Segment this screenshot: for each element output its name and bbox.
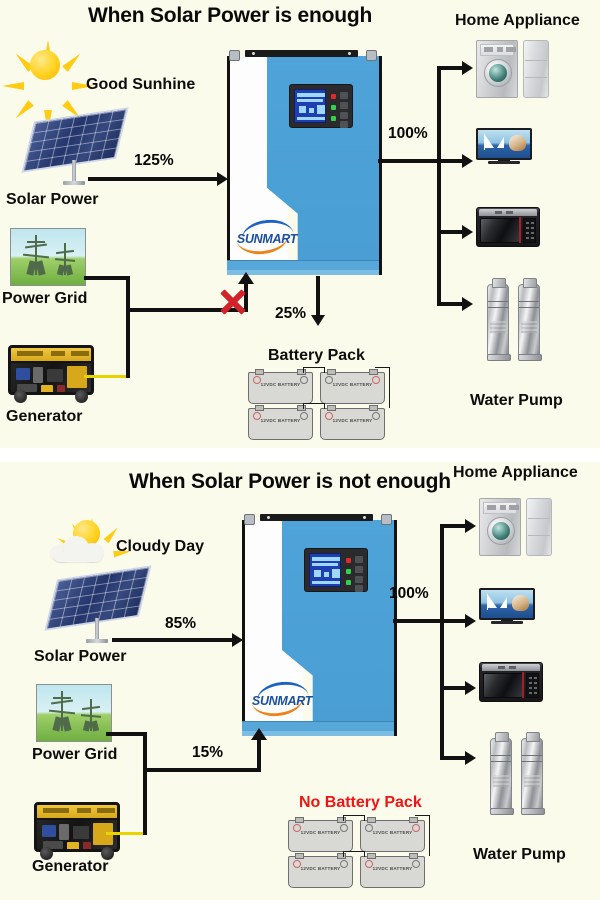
generator-wire-v-top <box>126 308 130 378</box>
panel-solar-not-enough: When Solar Power is not enough Cloudy Da… <box>0 462 600 900</box>
load-branch-1-bottom <box>440 524 467 528</box>
load-arrow-4-bottom <box>465 751 476 765</box>
power-grid-label-top: Power Grid <box>2 290 87 308</box>
battery-cell: 12VDC BATTERY <box>288 856 353 888</box>
grid-percent-bottom: 15% <box>192 744 223 762</box>
inverter-lcd-top <box>289 84 353 128</box>
generator-icon-bottom <box>34 802 120 860</box>
water-pump-icon-bottom <box>490 738 512 812</box>
red-x-icon <box>218 288 246 316</box>
load-arrow-4-top <box>462 297 473 311</box>
output-percent-bottom: 100% <box>389 585 429 603</box>
inverter-unit-bottom: SUNMART <box>242 514 394 736</box>
battery-percent-top: 25% <box>275 305 306 323</box>
diagram-page: When Solar Power is enough Good Sunhine … <box>0 0 600 900</box>
load-branch-2-top <box>437 159 464 163</box>
panel-divider <box>0 448 600 462</box>
washing-machine-icon-bottom <box>479 498 521 556</box>
ac-input-bus-bottom <box>143 768 261 772</box>
sun-icon <box>18 38 72 92</box>
cloud-icon <box>50 534 106 562</box>
panel-title-top: When Solar Power is enough <box>88 4 372 28</box>
solar-power-label-bottom: Solar Power <box>34 648 126 666</box>
output-line-bottom <box>393 619 443 623</box>
generator-wire-v-bottom <box>143 768 147 835</box>
no-battery-pack-label: No Battery Pack <box>299 794 422 812</box>
weather-label-bottom: Cloudy Day <box>116 538 204 556</box>
grid-wire-h-top <box>84 276 130 280</box>
load-branch-4-top <box>437 302 464 306</box>
ac-input-arrow-top <box>238 272 254 284</box>
refrigerator-icon-bottom <box>526 498 552 556</box>
brand-text: SUNMART <box>250 694 314 708</box>
load-arrow-3-bottom <box>465 681 476 695</box>
water-pump-icon-bottom-2 <box>521 738 543 812</box>
solar-panel-icon-bottom <box>55 574 151 646</box>
washing-machine-icon-top <box>476 40 518 98</box>
generator-wire-h-bottom <box>106 832 146 835</box>
solar-percent-bottom: 85% <box>165 615 196 633</box>
load-branch-2-bottom <box>440 619 467 623</box>
power-grid-icon-top <box>10 228 86 286</box>
inverter-brand-logo-top: SUNMART <box>235 220 299 254</box>
battery-cell: 12VDC BATTERY <box>248 408 313 440</box>
water-pump-label-bottom: Water Pump <box>473 846 566 864</box>
grid-wire-h-bottom <box>106 732 146 736</box>
battery-cell: 12VDC BATTERY <box>248 372 313 404</box>
battery-flow-line-top <box>316 276 320 316</box>
solar-flow-line-top <box>88 177 218 181</box>
grid-wire-v-top <box>126 276 130 310</box>
generator-label-top: Generator <box>6 408 82 426</box>
microwave-icon-top <box>476 207 540 247</box>
battery-pack-bottom: 12VDC BATTERY 12VDC BATTERY 12VDC BATTER… <box>288 818 434 888</box>
load-arrow-3-top <box>462 225 473 239</box>
battery-flow-arrow-top <box>311 315 325 326</box>
solar-flow-line-bottom <box>112 638 234 642</box>
refrigerator-icon-top <box>523 40 549 98</box>
output-percent-top: 100% <box>388 125 428 143</box>
output-line-top <box>378 159 440 163</box>
battery-pack-top: 12VDC BATTERY 12VDC BATTERY 12VDC BATTER… <box>248 370 394 440</box>
load-arrow-2-top <box>462 154 473 168</box>
water-pump-icon-top-2 <box>518 284 540 358</box>
load-branch-4-bottom <box>440 756 467 760</box>
weather-label-top: Good Sunhine <box>86 76 195 94</box>
ac-input-arrow-bottom <box>251 728 267 740</box>
power-grid-label-bottom: Power Grid <box>32 746 117 764</box>
load-branch-3-top <box>437 230 464 234</box>
television-icon-top <box>476 128 532 164</box>
inverter-unit-top: SUNMART <box>227 50 379 275</box>
panel-title-bottom: When Solar Power is not enough <box>129 470 451 494</box>
inverter-lcd-bottom <box>304 548 368 592</box>
output-bus-vertical-top <box>437 66 441 306</box>
load-arrow-1-top <box>462 61 473 75</box>
water-pump-icon-top <box>487 284 509 358</box>
load-branch-3-bottom <box>440 686 467 690</box>
generator-wire-h-top <box>84 375 130 378</box>
battery-cell: 12VDC BATTERY <box>288 820 353 852</box>
load-arrow-2-bottom <box>465 614 476 628</box>
water-pump-label-top: Water Pump <box>470 392 563 410</box>
generator-label-bottom: Generator <box>32 858 108 876</box>
inverter-brand-logo-bottom: SUNMART <box>250 682 314 716</box>
solar-power-label-top: Solar Power <box>6 191 98 209</box>
brand-text: SUNMART <box>235 232 299 246</box>
home-appliance-title-top: Home Appliance <box>455 12 580 30</box>
solar-percent-top: 125% <box>134 152 174 170</box>
output-bus-vertical-bottom <box>440 524 444 760</box>
microwave-icon-bottom <box>479 662 543 702</box>
power-grid-icon-bottom <box>36 684 112 742</box>
load-arrow-1-bottom <box>465 519 476 533</box>
ac-input-riser-bottom <box>257 740 261 772</box>
load-branch-1-top <box>437 66 464 70</box>
grid-wire-v-bottom <box>143 732 147 770</box>
generator-icon-top <box>8 345 94 403</box>
television-icon-bottom <box>479 588 535 624</box>
home-appliance-title-bottom: Home Appliance <box>453 464 578 482</box>
panel-solar-enough: When Solar Power is enough Good Sunhine … <box>0 0 600 448</box>
battery-cell: 12VDC BATTERY <box>360 856 425 888</box>
battery-cell: 12VDC BATTERY <box>320 408 385 440</box>
battery-pack-title-top: Battery Pack <box>268 347 365 365</box>
